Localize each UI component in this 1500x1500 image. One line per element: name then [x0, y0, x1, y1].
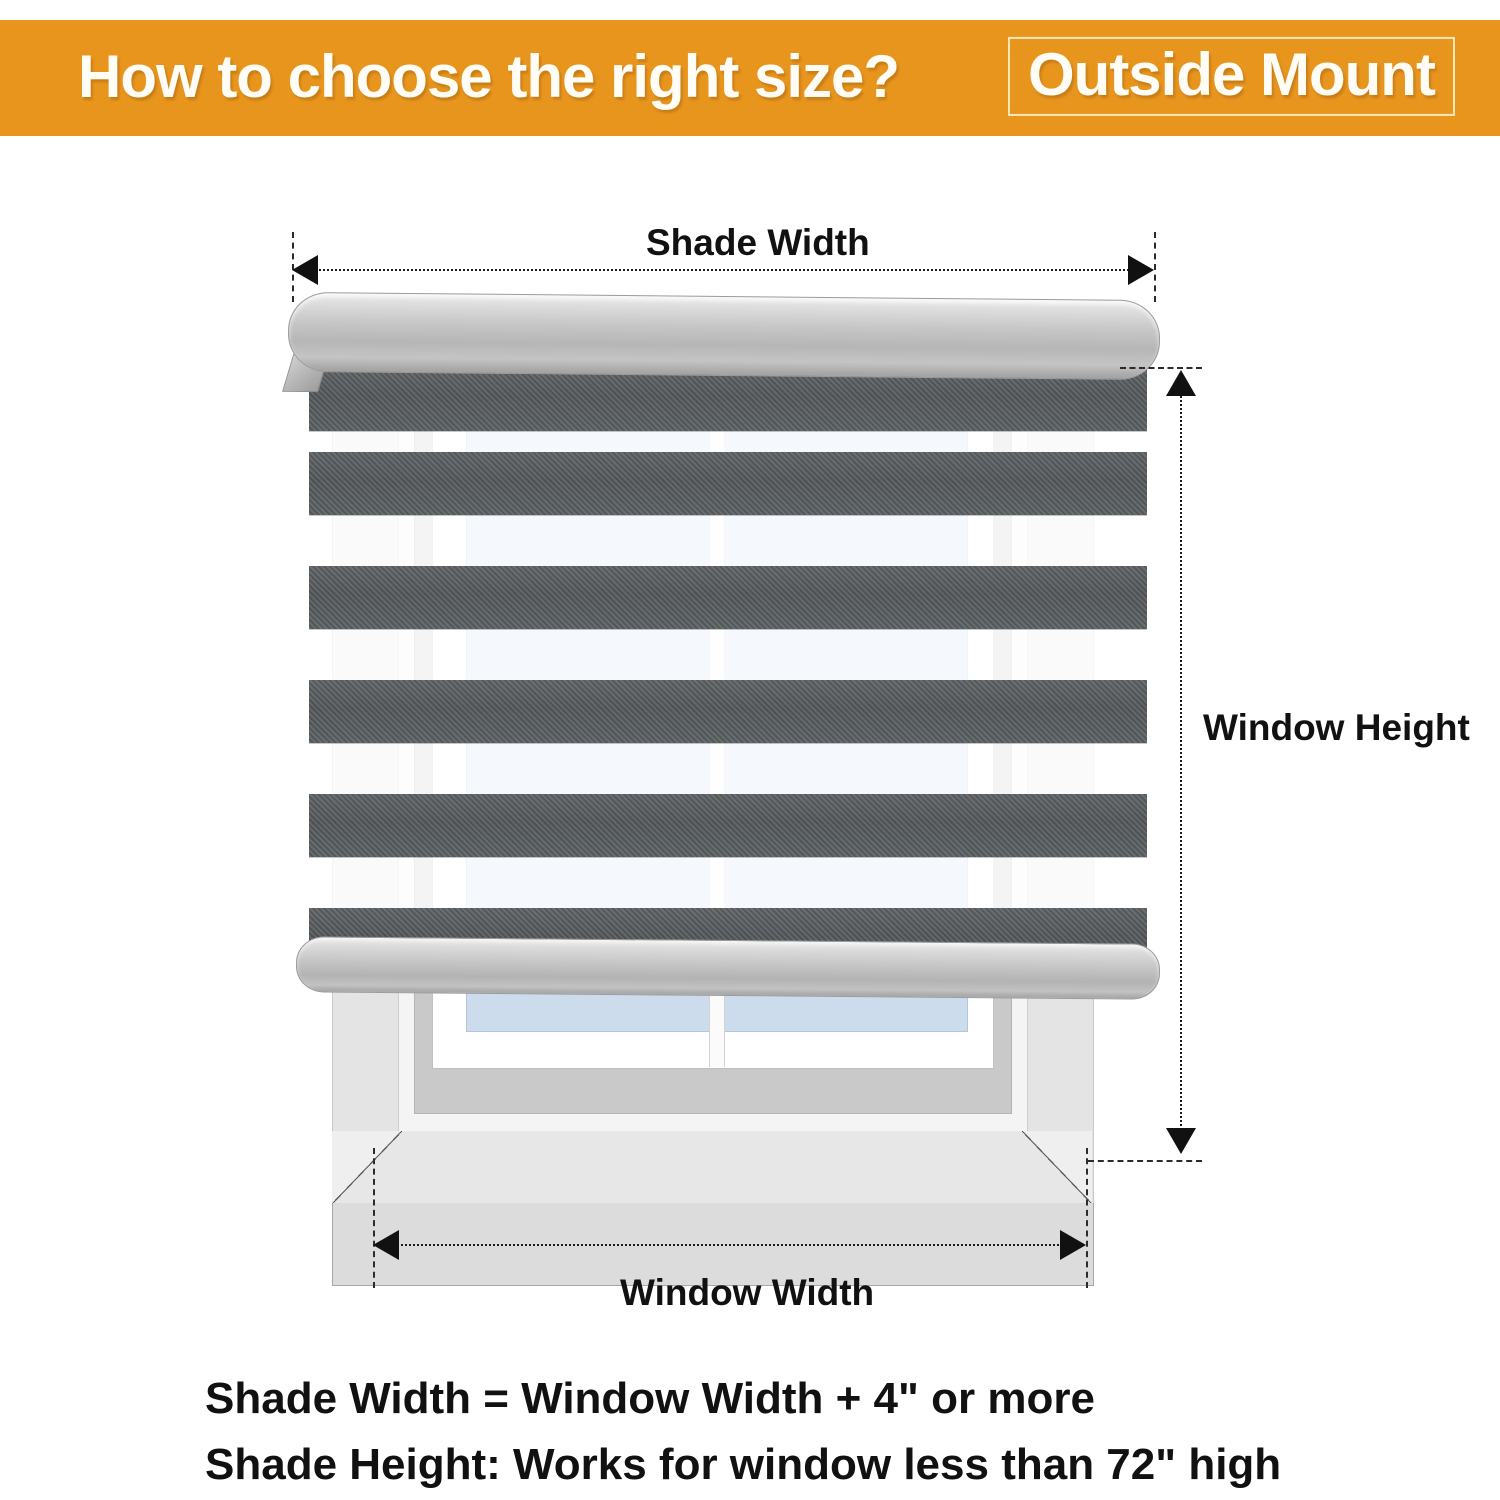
- window-width-dimension-line: [397, 1244, 1063, 1246]
- window-width-extension-right: [1086, 1148, 1088, 1288]
- window-height-arrow-top: [1166, 370, 1196, 396]
- shade-width-label: Shade Width: [646, 222, 870, 264]
- window-height-extension-top: [1120, 367, 1202, 369]
- shade-band: [309, 566, 1147, 629]
- window-width-extension-left: [373, 1148, 375, 1288]
- shade-width-dimension-line: [316, 269, 1132, 271]
- window-height-dimension-line: [1180, 396, 1182, 1130]
- window-width-arrow-right: [1060, 1230, 1086, 1260]
- shade-band: [309, 452, 1147, 515]
- infographic-root: How to choose the right size? Outside Mo…: [0, 0, 1500, 1500]
- window-height-arrow-bottom: [1166, 1128, 1196, 1154]
- window-height-extension-bottom: [1088, 1160, 1202, 1162]
- shade-bottom-rail: [296, 936, 1160, 1000]
- window-height-label: Window Height: [1203, 707, 1470, 749]
- window-sill-edge-right: [1022, 1131, 1092, 1204]
- shade-headrail: [288, 292, 1161, 380]
- shade-band: [309, 794, 1147, 857]
- window-sill-edge-left: [332, 1131, 402, 1204]
- shade-band: [309, 680, 1147, 743]
- window-sill-top: [332, 1131, 1092, 1204]
- shade-width-extension-right: [1154, 232, 1156, 302]
- window-width-label: Window Width: [620, 1272, 874, 1314]
- footnote-shade-width: Shade Width = Window Width + 4" or more: [205, 1374, 1095, 1424]
- shade-width-arrow-right: [1128, 255, 1154, 285]
- shade-width-arrow-left: [292, 255, 318, 285]
- zebra-shade: [309, 360, 1147, 975]
- footnote-shade-height: Shade Height: Works for window less than…: [205, 1440, 1281, 1490]
- window-width-arrow-left: [373, 1230, 399, 1260]
